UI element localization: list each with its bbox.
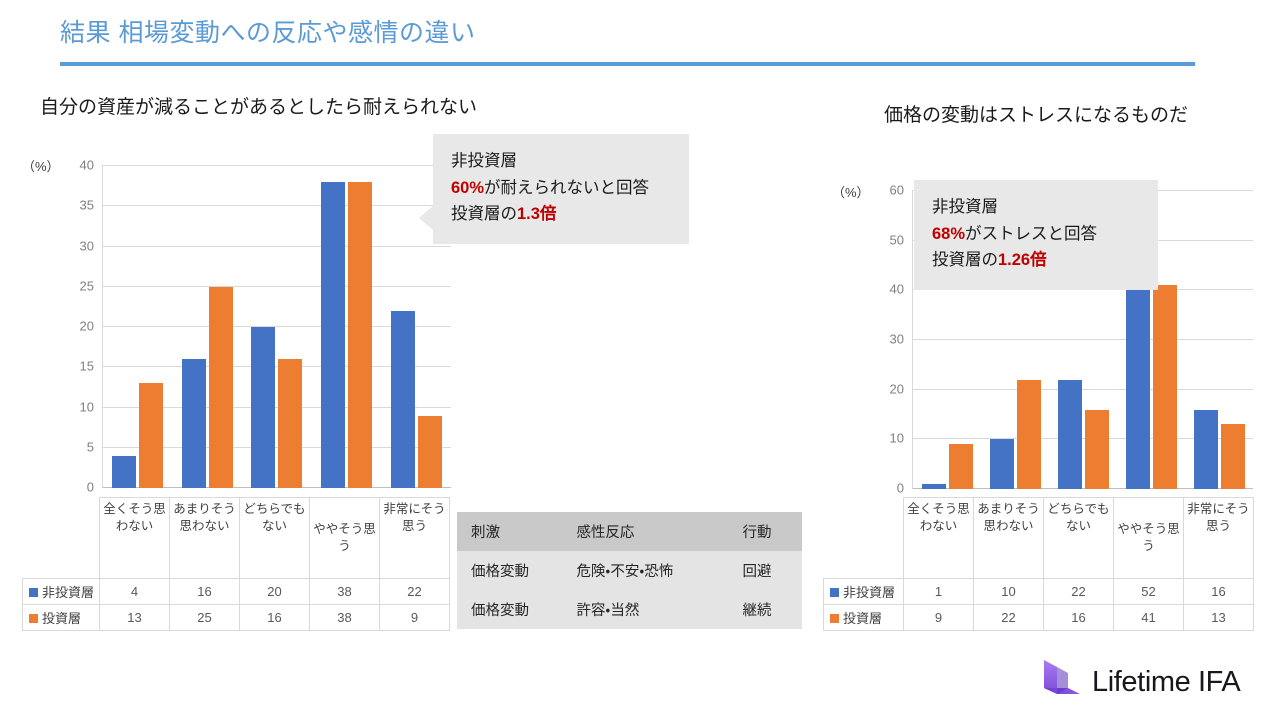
left-callout-tail [419, 206, 433, 230]
reaction-cell: 許容・当然 [568, 590, 724, 629]
left-chart-plot-area [102, 165, 451, 488]
right-callout-line-3-pre: 投資層の [932, 251, 998, 269]
data-value-cell: 9 [380, 605, 450, 631]
lifetime-l-mark-icon [1040, 658, 1082, 707]
data-value-cell: 22 [1044, 579, 1114, 605]
category-header-cell: ややそう思う [310, 498, 380, 579]
right-callout-ratio: 1.26倍 [998, 251, 1047, 269]
chart-bar [1085, 410, 1109, 489]
left-chart-y-axis: 0510152025303540 [60, 158, 94, 488]
chart-bar [990, 439, 1014, 489]
right-chart-data-table: 全くそう思わないあまりそう思わないどちらでもないややそう思う非常にそう思う非投資… [823, 497, 1254, 631]
chart-bar [418, 416, 442, 488]
y-axis-tick-label: 30 [890, 333, 904, 346]
legend-color-swatch-icon [29, 588, 38, 597]
y-axis-tick-label: 0 [897, 482, 904, 495]
y-axis-tick-label: 0 [87, 481, 94, 494]
data-value-cell: 52 [1114, 579, 1184, 605]
data-value-cell: 10 [974, 579, 1044, 605]
chart-category-group [173, 166, 243, 488]
legend-label: 非投資層 [42, 585, 94, 600]
chart-bar [348, 182, 372, 488]
table-row: 非投資層110225216 [824, 579, 1254, 605]
data-value-cell: 1 [904, 579, 974, 605]
y-axis-tick-label: 10 [80, 400, 94, 413]
data-value-cell: 41 [1114, 605, 1184, 631]
action-cell: 継続 [725, 590, 802, 629]
data-value-cell: 16 [240, 605, 310, 631]
y-axis-tick-label: 50 [890, 233, 904, 246]
left-callout-line-2-text: が耐えられないと回答 [484, 179, 649, 197]
legend-entry-非投資層: 非投資層 [23, 579, 100, 605]
y-axis-tick-label: 30 [80, 239, 94, 252]
category-header-cell: 非常にそう思う [380, 498, 450, 579]
chart-bar [251, 327, 275, 488]
right-callout-line-2-text: がストレスと回答 [965, 225, 1097, 243]
left-chart-data-table: 全くそう思わないあまりそう思わないどちらでもないややそう思う非常にそう思う非投資… [22, 497, 450, 631]
category-header-cell: ややそう思う [1114, 498, 1184, 579]
legend-color-swatch-icon [830, 588, 839, 597]
left-chart-callout: 非投資層 60%が耐えられないと回答 投資層の1.3倍 [433, 134, 689, 244]
chart-category-group [103, 166, 173, 488]
legend-label: 投資層 [843, 611, 882, 626]
left-chart-title: 自分の資産が減ることがあるとしたら耐えられない [40, 92, 477, 119]
right-callout-line-3: 投資層の1.26倍 [932, 247, 1140, 274]
y-axis-tick-label: 40 [890, 283, 904, 296]
title-underline-rule [60, 62, 1195, 66]
chart-bar [1058, 380, 1082, 489]
legend-color-swatch-icon [29, 614, 38, 623]
legend-entry-投資層: 投資層 [824, 605, 904, 631]
data-value-cell: 13 [100, 605, 170, 631]
left-callout-stat: 60% [451, 179, 484, 197]
data-table-header-row: 全くそう思わないあまりそう思わないどちらでもないややそう思う非常にそう思う [824, 498, 1254, 579]
data-value-cell: 22 [380, 579, 450, 605]
stimulus-reference-table: 刺激 感性反応 行動 価格変動 危険・不安・恐怖 回避 価格変動 許容・当然 継… [457, 512, 802, 629]
table-row: 非投資層416203822 [23, 579, 450, 605]
left-callout-line-3: 投資層の1.3倍 [451, 201, 671, 228]
left-callout-ratio: 1.3倍 [517, 205, 556, 223]
data-value-cell: 16 [1184, 579, 1254, 605]
data-value-cell: 4 [100, 579, 170, 605]
data-table-corner [824, 498, 904, 579]
legend-entry-非投資層: 非投資層 [824, 579, 904, 605]
brand-wordmark: Lifetime IFA [1092, 666, 1240, 699]
category-header-cell: どちらでもない [240, 498, 310, 579]
action-cell: 回避 [725, 551, 802, 590]
right-callout-stat: 68% [932, 225, 965, 243]
right-chart-title: 価格の変動はストレスになるものだ [884, 100, 1188, 127]
left-bar-chart: 0510152025303540 [60, 158, 450, 493]
category-header-cell: どちらでもない [1044, 498, 1114, 579]
stimulus-table-header-row: 刺激 感性反応 行動 [457, 512, 802, 551]
reaction-cell: 危険・不安・恐怖 [568, 551, 724, 590]
y-axis-tick-label: 15 [80, 360, 94, 373]
data-value-cell: 38 [310, 605, 380, 631]
y-axis-tick-label: 10 [890, 432, 904, 445]
data-value-cell: 22 [974, 605, 1044, 631]
chart-category-group [1185, 191, 1253, 489]
chart-bar [209, 287, 233, 488]
chart-bar [1194, 410, 1218, 489]
data-value-cell: 13 [1184, 605, 1254, 631]
brand-logo: Lifetime IFA [1040, 658, 1240, 707]
data-value-cell: 9 [904, 605, 974, 631]
chart-bar [922, 484, 946, 489]
chart-bar [321, 182, 345, 488]
y-axis-tick-label: 25 [80, 279, 94, 292]
left-callout-line-2: 60%が耐えられないと回答 [451, 175, 671, 202]
chart-bar [139, 383, 163, 488]
legend-label: 非投資層 [843, 585, 895, 600]
category-header-cell: 非常にそう思う [1184, 498, 1254, 579]
chart-bar [278, 359, 302, 488]
stimulus-table-header-stimulus: 刺激 [457, 512, 568, 551]
y-axis-tick-label: 5 [87, 440, 94, 453]
data-value-cell: 25 [170, 605, 240, 631]
chart-bar [391, 311, 415, 488]
y-axis-tick-label: 20 [890, 382, 904, 395]
y-axis-tick-label: 60 [890, 184, 904, 197]
slide-header: 結果 相場変動への反応や感情の違い [60, 18, 1195, 66]
category-header-cell: 全くそう思わない [100, 498, 170, 579]
data-value-cell: 20 [240, 579, 310, 605]
chart-bar [1221, 424, 1245, 489]
stimulus-table-header-reaction: 感性反応 [568, 512, 724, 551]
chart-category-group [312, 166, 382, 488]
stimulus-cell: 価格変動 [457, 551, 568, 590]
chart-bar [112, 456, 136, 488]
right-chart-axis-unit: （%） [832, 182, 870, 201]
chart-bar [1017, 380, 1041, 489]
data-table-header-row: 全くそう思わないあまりそう思わないどちらでもないややそう思う非常にそう思う [23, 498, 450, 579]
data-table-corner [23, 498, 100, 579]
y-axis-tick-label: 35 [80, 199, 94, 212]
table-row: 投資層132516389 [23, 605, 450, 631]
table-row: 価格変動 許容・当然 継続 [457, 590, 802, 629]
y-axis-tick-label: 40 [80, 159, 94, 172]
table-row: 価格変動 危険・不安・恐怖 回避 [457, 551, 802, 590]
chart-bar [182, 359, 206, 488]
right-callout-line-1: 非投資層 [932, 194, 1140, 221]
left-chart-axis-unit: （%） [22, 156, 60, 175]
page-title: 結果 相場変動への反応や感情の違い [60, 18, 1195, 48]
category-header-cell: 全くそう思わない [904, 498, 974, 579]
chart-bar [949, 444, 973, 489]
left-callout-line-3-pre: 投資層の [451, 205, 517, 223]
data-value-cell: 16 [1044, 605, 1114, 631]
legend-color-swatch-icon [830, 614, 839, 623]
stimulus-table-header-action: 行動 [725, 512, 802, 551]
left-callout-line-1: 非投資層 [451, 148, 671, 175]
y-axis-tick-label: 20 [80, 320, 94, 333]
right-chart-callout: 非投資層 68%がストレスと回答 投資層の1.26倍 [914, 180, 1158, 290]
category-header-cell: あまりそう思わない [974, 498, 1044, 579]
chart-category-group [242, 166, 312, 488]
stimulus-cell: 価格変動 [457, 590, 568, 629]
category-header-cell: あまりそう思わない [170, 498, 240, 579]
right-callout-line-2: 68%がストレスと回答 [932, 221, 1140, 248]
right-chart-y-axis: 0102030405060 [870, 184, 904, 489]
table-row: 投資層922164113 [824, 605, 1254, 631]
data-value-cell: 16 [170, 579, 240, 605]
chart-bar [1153, 285, 1177, 489]
legend-entry-投資層: 投資層 [23, 605, 100, 631]
data-value-cell: 38 [310, 579, 380, 605]
legend-label: 投資層 [42, 611, 81, 626]
